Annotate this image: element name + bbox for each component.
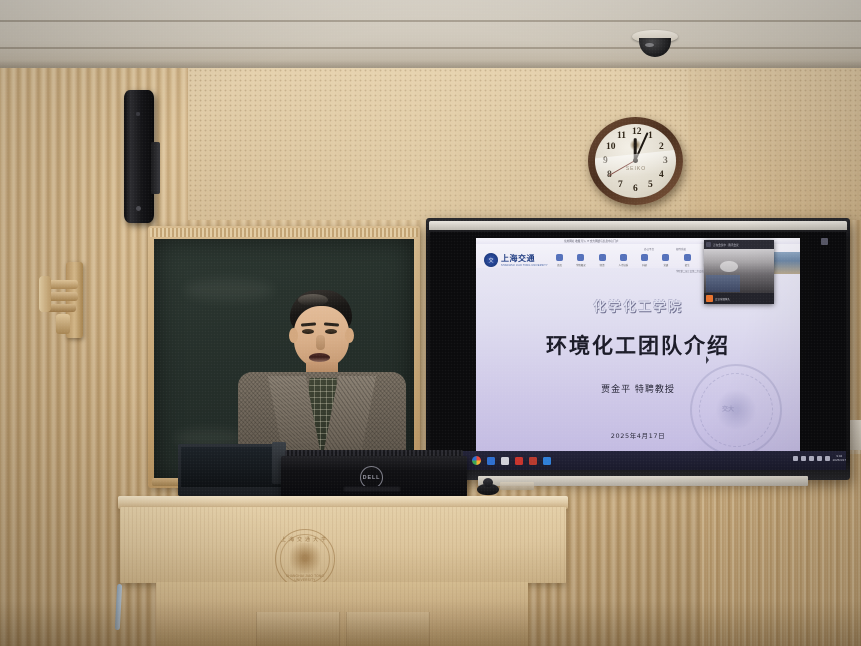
participant-name: 会议室摄像头 [715,297,730,301]
ceiling-seam [0,20,861,22]
podium-papers [500,482,534,490]
nav-icon [641,254,648,261]
nav-item-4[interactable]: 科研 [635,254,654,267]
nav-label: 党建 [664,263,669,267]
taskbar-clock[interactable]: 9:04 2025/4/17 [833,454,846,462]
nav-item-3[interactable]: 人才培养 [614,254,633,267]
clock-numeral-12: 12 [632,128,642,138]
top-link-mail[interactable]: 邮件系统 [676,247,686,251]
start-button-icon[interactable] [472,456,481,465]
emblem-english-text: SHANGHAI JIAO TONG UNIVERSITY [276,574,334,582]
mouse-cursor-icon [706,356,709,364]
podium-front-panel: 上海交通大学 SHANGHAI JIAO TONG UNIVERSITY [120,507,566,583]
presenter-hair-highlight [298,294,328,306]
clock-numeral-1: 1 [648,132,653,142]
tray-network-icon[interactable] [809,456,814,461]
wall-clock: 12 1 2 3 4 5 6 7 8 9 10 11 SEIKO [588,117,683,205]
video-feed-object [706,275,740,292]
speaker-bracket [151,142,160,194]
clock-face: 12 1 2 3 4 5 6 7 8 9 10 11 SEIKO [595,124,676,198]
presenter-eye-left [302,329,314,334]
nav-item-2[interactable]: 师资 [593,254,612,267]
nav-label: 学院概况 [576,263,586,267]
tray-battery-icon[interactable] [825,456,830,461]
nav-label: 人才培养 [619,263,629,267]
sconce-shade [39,276,51,312]
loudspeaker-icon [124,90,159,223]
video-feed-highlight [720,261,738,272]
laptop[interactable]: DELL [281,450,467,498]
taskbar-app-office-icon[interactable] [529,457,537,465]
taskbar-clock-date: 2025/4/17 [833,458,846,462]
video-window-titlebar[interactable]: 正在会议中 · 腾讯会议 [704,240,774,249]
taskbar-app-browser-icon[interactable] [487,457,495,465]
clock-numeral-6: 6 [633,185,638,195]
security-camera-icon [632,30,678,60]
site-logo-text: 上海交通 [501,254,535,263]
screen-corner-icon[interactable] [821,238,828,245]
tray-chevron-icon[interactable] [793,456,798,461]
nav-icon [556,254,563,261]
sjtu-watermark: 交大 [690,364,782,456]
nav-label: 招生 [685,263,690,267]
floor-shadow [0,600,861,646]
presentation-display[interactable]: 常用网址 收藏 导入 IT 交大网络与信息中心门户 交 上海交通 SHANGHA… [426,218,850,490]
taskbar-app-meeting-icon[interactable] [543,457,551,465]
emblem-core [290,543,320,573]
nav-label: 首页 [557,263,562,267]
ceiling-seam [0,47,861,49]
laptop-port-strip [343,486,401,492]
nav-icon [684,254,691,261]
presenter-mouth [309,353,330,362]
tray-input-icon[interactable] [801,456,806,461]
nav-item-5[interactable]: 党建 [656,254,675,267]
microphone-head [483,478,493,487]
speaker-body [124,90,154,223]
browser-bookmark-bar[interactable]: 常用网址 收藏 导入 IT 交大网络与信息中心门户 [564,239,618,243]
presenter-ear-left [289,328,298,343]
emblem-chinese-text: 上海交通大学 [276,536,334,543]
clock-numeral-11: 11 [617,132,626,142]
participant-avatar [706,295,713,302]
clock-numeral-7: 7 [618,181,623,191]
site-logo-subtext: SHANGHAI JIAO TONG UNIVERSITY [501,264,548,267]
speaker-driver [136,206,141,211]
presenter-eye-right [325,329,337,334]
sjtu-logo-icon: 交 [484,253,498,267]
slide-presenter: 贾金平 特聘教授 [476,382,800,395]
nav-icon [577,254,584,261]
nav-icon [620,254,627,261]
nav-item-0[interactable]: 首页 [550,254,569,267]
chalkboard-top-rail [150,228,418,237]
nav-label: 师资 [600,263,605,267]
video-window-footer: 会议室摄像头 [704,293,774,304]
video-feed [704,249,774,293]
taskbar-app-explorer-icon[interactable] [501,457,509,465]
sconce-bulb [56,314,70,334]
presenter-nose [316,335,325,350]
video-conference-window[interactable]: 正在会议中 · 腾讯会议 会议室摄像头 [704,240,774,304]
presenter-ear-right [345,328,354,343]
camera-glint [645,43,654,47]
top-link-office[interactable]: 办公平台 [644,247,654,251]
clock-numeral-5: 5 [648,181,653,191]
display-screen[interactable]: 常用网址 收藏 导入 IT 交大网络与信息中心门户 交 上海交通 SHANGHA… [430,232,846,470]
windows-taskbar[interactable]: 9:04 2025/4/17 [434,451,846,470]
system-tray[interactable]: 9:04 2025/4/17 [793,454,846,462]
taskbar-app-pdf-icon[interactable] [515,457,523,465]
speaker-driver [136,112,140,116]
video-app-icon [706,242,711,247]
lecture-hall-photo: 12 1 2 3 4 5 6 7 8 9 10 11 SEIKO [0,0,861,646]
camera-dome [639,38,671,57]
podium-monitor-screen[interactable] [181,447,283,487]
clock-numeral-10: 10 [606,143,616,153]
display-top-strip [429,221,847,230]
video-window-title: 正在会议中 · 腾讯会议 [713,243,739,247]
nav-item-1[interactable]: 学院概况 [571,254,590,267]
nav-icon [599,254,606,261]
laptop-brand-label: DELL [363,475,381,481]
nav-label: 科研 [642,263,647,267]
microphone[interactable] [477,478,499,495]
nav-icon [662,254,669,261]
slide-date: 2025年4月17日 [476,430,800,440]
nav-item-6[interactable]: 招生 [678,254,697,267]
wall-sconce-icon [38,262,90,340]
sjtu-emblem-icon: 上海交通大学 SHANGHAI JIAO TONG UNIVERSITY [275,529,335,589]
site-nav[interactable]: 首页 学院概况 师资 人才培养 [550,254,718,268]
podium-monitor [178,444,286,496]
tray-volume-icon[interactable] [817,456,822,461]
watermark-text: 交大 [722,404,734,413]
ceiling [0,0,861,74]
slide-title: 环境化工团队介绍 [476,330,800,360]
